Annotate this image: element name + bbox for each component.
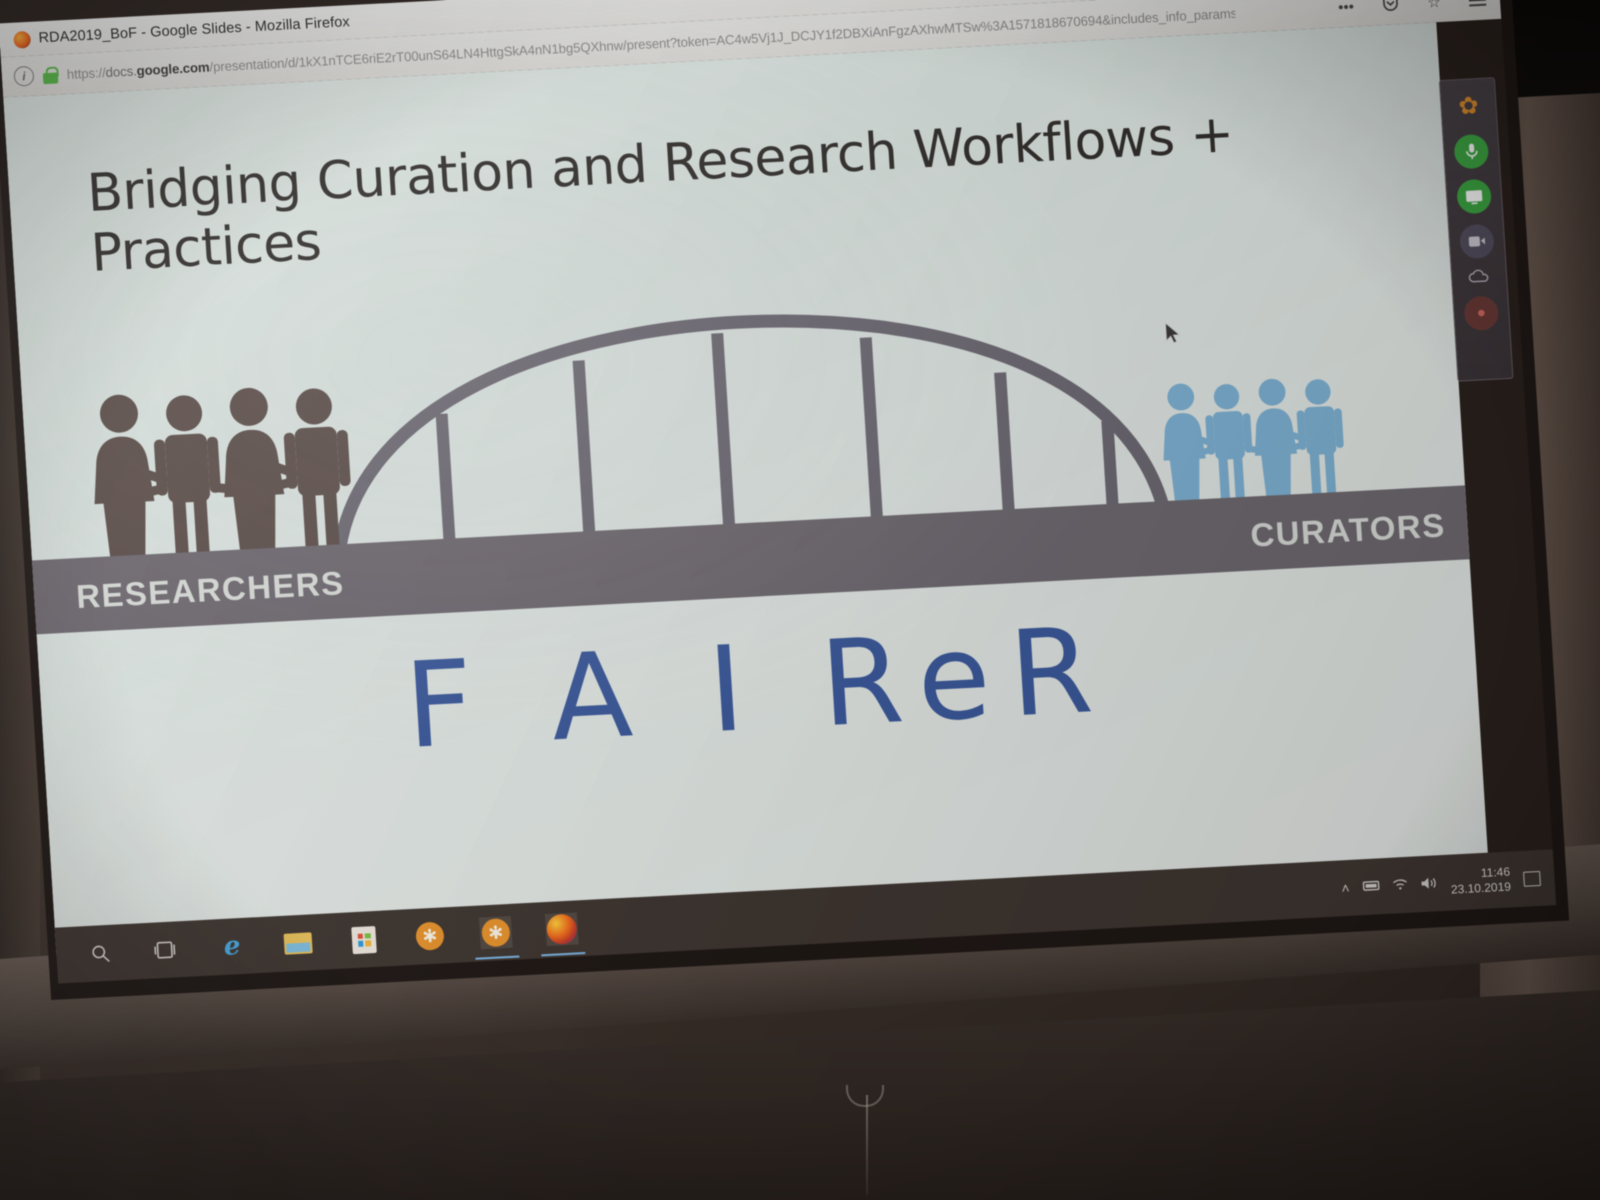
hamburger-menu-icon[interactable] — [1469, 0, 1487, 7]
researchers-figures — [80, 380, 360, 569]
orange-app-icon[interactable]: ✻ — [413, 919, 447, 953]
microsoft-store-icon[interactable] — [347, 923, 381, 957]
lock-icon[interactable] — [42, 66, 58, 84]
cloud-icon[interactable] — [1468, 269, 1491, 286]
system-tray[interactable]: ˄ 11:46 23.10.2019 — [1340, 850, 1542, 916]
pocket-icon[interactable] — [1381, 0, 1399, 16]
url-scheme: https:// — [66, 64, 106, 81]
task-view-icon[interactable] — [149, 933, 183, 967]
clock[interactable]: 11:46 23.10.2019 — [1450, 865, 1512, 898]
record-icon[interactable]: ● — [1463, 295, 1499, 331]
edge-icon[interactable]: e — [215, 930, 249, 964]
file-explorer-icon[interactable] — [281, 926, 315, 960]
clock-date: 23.10.2019 — [1451, 880, 1512, 898]
display-monitor: RDA2019_BoF - Google Slides - Mozilla Fi… — [0, 0, 1569, 1000]
presentation-slide[interactable]: Bridging Curation and Research Workflows… — [3, 22, 1489, 955]
volume-icon[interactable] — [1420, 876, 1438, 892]
mouse-pointer-icon — [1164, 321, 1182, 346]
search-icon[interactable] — [83, 937, 117, 971]
bookmark-star-icon[interactable]: ☆ — [1427, 0, 1442, 12]
overflow-menu-icon[interactable]: ••• — [1338, 0, 1355, 16]
camera-icon[interactable] — [1459, 224, 1495, 260]
tray-chevron-icon[interactable]: ˄ — [1341, 881, 1350, 895]
screen-content: RDA2019_BoF - Google Slides - Mozilla Fi… — [0, 0, 1556, 984]
info-icon[interactable]: i — [13, 66, 34, 87]
orange-app-icon-2[interactable]: ✻ — [479, 916, 513, 950]
screen-share-icon[interactable] — [1456, 179, 1492, 215]
slide-title: Bridging Curation and Research Workflows… — [86, 98, 1382, 285]
firefox-taskbar-icon[interactable] — [545, 912, 579, 946]
room-scene: RDA2019_BoF - Google Slides - Mozilla Fi… — [0, 0, 1600, 1200]
app-flower-icon[interactable]: ✿ — [1451, 89, 1487, 125]
hanging-cable — [866, 1095, 868, 1195]
url-domain: google.com — [136, 59, 210, 78]
microphone-icon[interactable] — [1453, 134, 1489, 170]
curators-figures — [1153, 370, 1351, 510]
notification-icon[interactable] — [1523, 870, 1541, 886]
url-subdomain: docs. — [105, 63, 137, 80]
network-icon[interactable] — [1362, 879, 1380, 894]
firefox-icon — [13, 30, 31, 48]
wifi-icon[interactable] — [1392, 878, 1408, 893]
